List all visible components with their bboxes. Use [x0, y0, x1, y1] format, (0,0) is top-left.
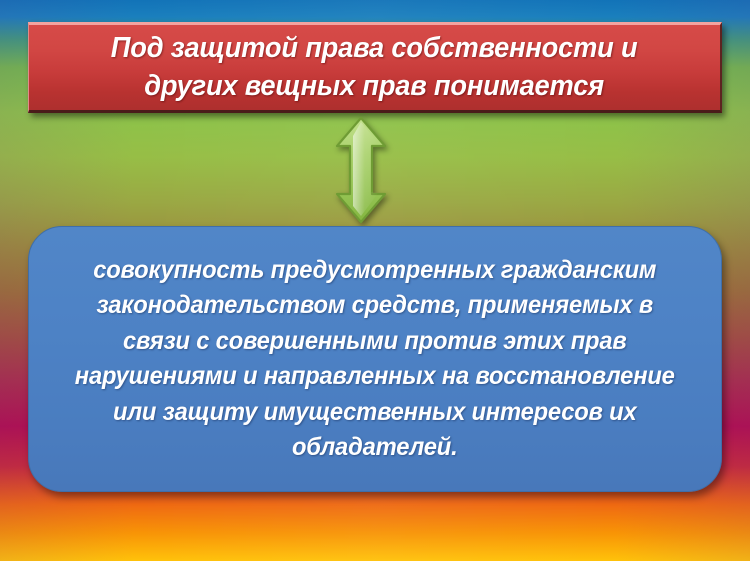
- double-arrow-vertical-icon: [333, 116, 389, 224]
- header-banner-text: Под защитой права собственности и других…: [102, 30, 647, 104]
- slide-canvas: Под защитой права собственности и других…: [0, 0, 750, 561]
- header-banner: Под защитой права собственности и других…: [28, 22, 722, 113]
- body-content-box: совокупность предусмотренных гражданским…: [28, 226, 722, 492]
- body-content-text: совокупность предусмотренных гражданским…: [62, 253, 689, 466]
